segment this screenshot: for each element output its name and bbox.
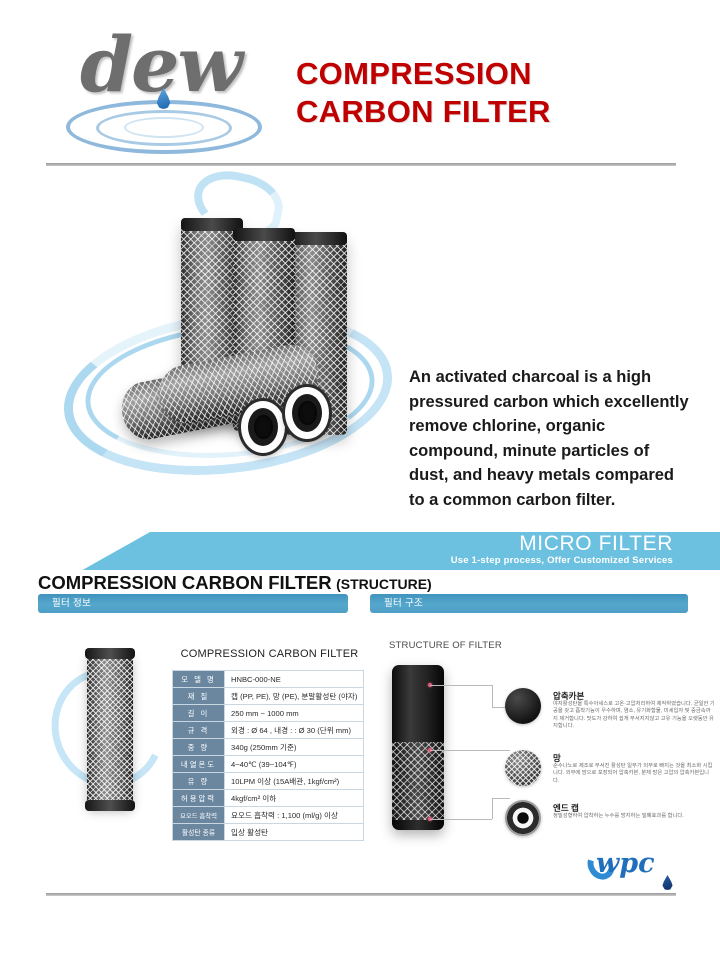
table-row: 모 델 명HNBC-000-NE <box>173 671 364 688</box>
spec-value: 요오드 흡착력 : 1,100 (ml/g) 이상 <box>225 807 364 824</box>
callout-body: 순수나노로 제조로 부서진 활성탄 일부가 외부로 빠지는 것을 최소화 시킵니… <box>553 763 715 785</box>
structure-label: STRUCTURE OF FILTER <box>389 640 502 651</box>
section-title: COMPRESSION CARBON FILTER <box>38 572 332 593</box>
end-cap-swatch-icon <box>505 800 541 836</box>
micro-filter-banner: MICRO FILTER Use 1-step process, Offer C… <box>0 532 720 570</box>
page-header: dew COMPRESSION CARBON FILTER <box>0 0 720 155</box>
spec-key: 모 델 명 <box>173 671 225 688</box>
table-row: 유 량10LPM 이상 (15A배관, 1kgf/cm²) <box>173 773 364 790</box>
spec-key: 중 량 <box>173 739 225 756</box>
filter-cutaway-diagram <box>392 665 444 830</box>
banner-title: MICRO FILTER <box>519 532 673 556</box>
callout-body: 정밀성형하여 압착하는 누수를 방지하는 밀폐효과를 합니다. <box>553 813 715 820</box>
product-filter-cartridge <box>87 652 133 807</box>
spec-table-caption: COMPRESSION CARBON FILTER <box>172 648 367 660</box>
spec-value: 340g (250mm 기준) <box>225 739 364 756</box>
spec-key: 길 이 <box>173 705 225 722</box>
spec-value: HNBC-000-NE <box>225 671 364 688</box>
table-row: 길 이250 mm ~ 1000 mm <box>173 705 364 722</box>
wpc-logo-text: wpc <box>596 848 655 879</box>
spec-value: 4~40℃ (39~104℉) <box>225 756 364 773</box>
section-header: COMPRESSION CARBON FILTER (STRUCTURE) <box>38 572 688 594</box>
leader-line-endcap-2 <box>492 798 510 799</box>
table-row: 내열온도4~40℃ (39~104℉) <box>173 756 364 773</box>
tab-filter-info[interactable]: 필터 정보 <box>38 594 348 613</box>
leader-line-mesh <box>430 750 510 751</box>
mesh-swatch-icon <box>505 750 541 786</box>
leader-line-endcap <box>430 819 492 820</box>
spec-value: 4kgf/cm² 이하 <box>225 790 364 807</box>
spec-value: 외경 : Ø 64 , 내경 : : Ø 30 (단위 mm) <box>225 722 364 739</box>
cutaway-mesh-layer <box>392 742 444 822</box>
hero-description: An activated charcoal is a high pressure… <box>409 365 689 512</box>
ripple-inner-icon <box>124 117 204 138</box>
cartridge-cap-top <box>233 228 295 241</box>
table-row: 허용압력4kgf/cm² 이하 <box>173 790 364 807</box>
leader-line-carbon <box>430 685 492 686</box>
spec-key: 요오드 흡착력 <box>173 807 225 824</box>
hero-section: An activated charcoal is a high pressure… <box>0 155 720 500</box>
tab-filter-structure[interactable]: 필터 구조 <box>370 594 688 613</box>
cartridge-end-ring-1 <box>241 401 285 453</box>
table-row: 중 량340g (250mm 기준) <box>173 739 364 756</box>
spec-value: 10LPM 이상 (15A배관, 1kgf/cm²) <box>225 773 364 790</box>
footer-divider <box>46 893 676 896</box>
spec-key: 유 량 <box>173 773 225 790</box>
spec-value: 250 mm ~ 1000 mm <box>225 705 364 722</box>
spec-key: 허용압력 <box>173 790 225 807</box>
banner-subtitle: Use 1-step process, Offer Customized Ser… <box>451 555 673 566</box>
spec-value: 입상 활성탄 <box>225 824 364 841</box>
leader-line-carbon-v <box>492 685 493 707</box>
table-row: 요오드 흡착력요오드 흡착력 : 1,100 (ml/g) 이상 <box>173 807 364 824</box>
cutaway-end-cap-layer <box>392 820 444 830</box>
wpc-droplet-icon <box>662 875 673 890</box>
spec-key: 규 격 <box>173 722 225 739</box>
table-row: 규 격외경 : Ø 64 , 내경 : : Ø 30 (단위 mm) <box>173 722 364 739</box>
wpc-logo: wpc <box>588 848 688 896</box>
compressed-carbon-swatch-icon <box>505 688 541 724</box>
section-tabs: 필터 정보 필터 구조 <box>38 594 688 614</box>
page-title-line2: CARBON FILTER <box>296 93 686 131</box>
hero-product-image <box>55 163 395 483</box>
page-title: COMPRESSION CARBON FILTER <box>296 55 686 131</box>
spec-table: 모 델 명HNBC-000-NE 재 질캡 (PP, PE), 망 (PE), … <box>172 670 364 841</box>
table-row: 재 질캡 (PP, PE), 망 (PE), 분말활성탄 (야자) <box>173 688 364 705</box>
cartridge-end-ring-2 <box>285 387 329 439</box>
page-title-line1: COMPRESSION <box>296 55 686 93</box>
spec-table-body: 모 델 명HNBC-000-NE 재 질캡 (PP, PE), 망 (PE), … <box>173 671 364 841</box>
spec-value: 캡 (PP, PE), 망 (PE), 분말활성탄 (야자) <box>225 688 364 705</box>
product-photo <box>52 640 170 820</box>
spec-key: 재 질 <box>173 688 225 705</box>
callout-body: 야자활성탄을 특수아세스로 고온·고압처리하여 제작하였습니다. 균일한 기공을… <box>553 701 715 731</box>
spec-key: 내열온도 <box>173 756 225 773</box>
dew-logo: dew <box>62 18 282 148</box>
section-title-suffix: (STRUCTURE) <box>336 576 432 592</box>
spec-key: 활성탄 종류 <box>173 824 225 841</box>
leader-line-endcap-v <box>492 798 493 819</box>
table-row: 활성탄 종류입상 활성탄 <box>173 824 364 841</box>
